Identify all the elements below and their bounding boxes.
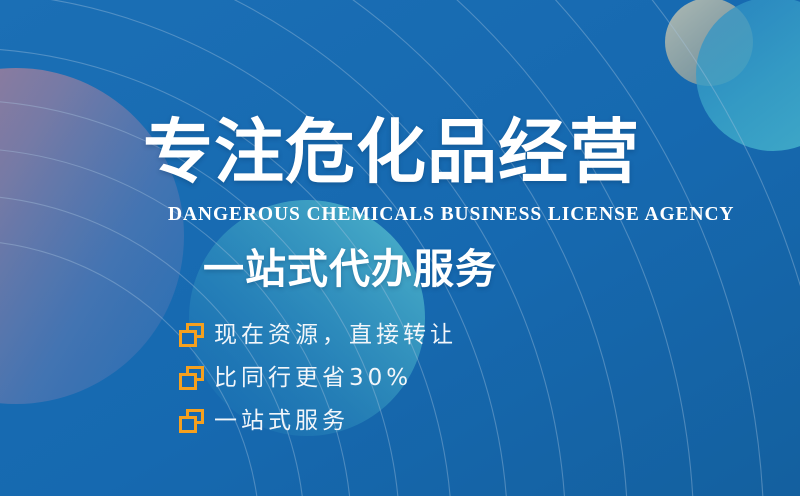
list-item: 一站式服务 (179, 402, 457, 440)
list-item: 比同行更省30% (179, 359, 457, 397)
feature-list: 现在资源，直接转让 比同行更省30% 一站式服务 (179, 316, 457, 445)
list-item-label: 现在资源，直接转让 (214, 321, 457, 349)
subtitle-chinese: 一站式代办服务 (203, 244, 497, 294)
overlapping-squares-icon (179, 409, 204, 434)
banner-root: 专注危化品经营 DANGEROUS CHEMICALS BUSINESS LIC… (0, 0, 800, 496)
overlapping-squares-icon (179, 323, 204, 348)
page-title: 专注危化品经营 (143, 113, 640, 191)
list-item: 现在资源，直接转让 (179, 316, 457, 354)
list-item-label: 一站式服务 (214, 407, 349, 435)
overlapping-squares-icon (179, 366, 204, 391)
subtitle-english: DANGEROUS CHEMICALS BUSINESS LICENSE AGE… (168, 203, 734, 227)
list-item-label: 比同行更省30% (214, 364, 412, 392)
banner-content: 专注危化品经营 DANGEROUS CHEMICALS BUSINESS LIC… (0, 0, 800, 496)
